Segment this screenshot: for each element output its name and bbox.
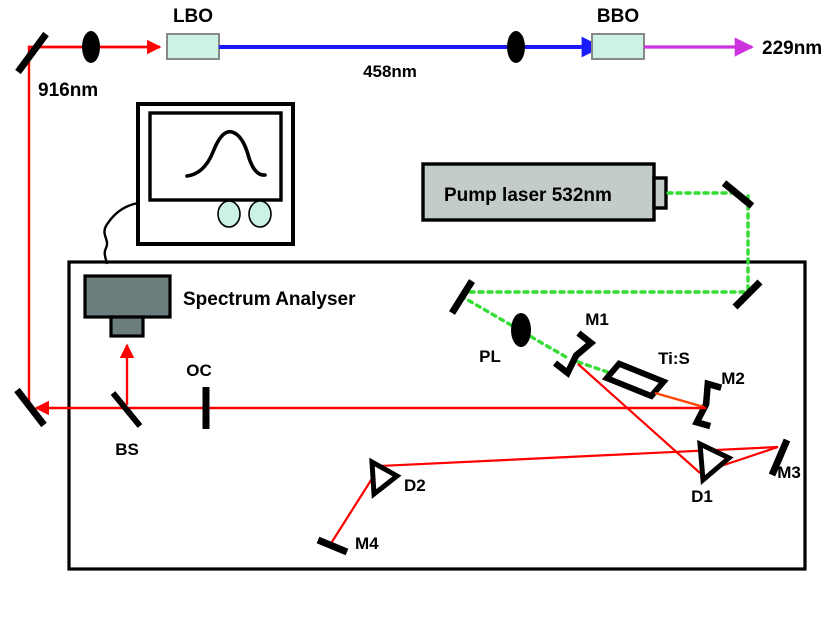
beam-tis-to-m2	[655, 393, 704, 407]
pump-laser-aperture	[654, 178, 666, 208]
monitor-knob-right[interactable]	[249, 201, 271, 227]
spectrum-analyser-body	[85, 276, 170, 317]
label-bbo: BBO	[597, 6, 639, 27]
lens-916nm-focusing	[82, 31, 100, 63]
label-pl: PL	[479, 347, 501, 366]
label-spectrum-analyser: Spectrum Analyser	[183, 289, 356, 310]
label-pump-laser: Pump laser 532nm	[444, 185, 612, 206]
lens-458nm-focusing	[507, 31, 525, 63]
lens-pump-focusing	[511, 313, 531, 347]
label-m2: M2	[721, 369, 745, 388]
monitor-display[interactable]	[138, 104, 293, 244]
label-d1: D1	[691, 487, 713, 506]
prism-d2[interactable]	[372, 462, 397, 494]
monitor-screen	[150, 113, 281, 200]
label-916nm: 916nm	[38, 80, 98, 101]
label-m4: M4	[355, 534, 379, 553]
label-bs: BS	[115, 440, 139, 459]
label-d2: D2	[404, 476, 426, 495]
mirror-pump-steering-3[interactable]	[452, 281, 472, 313]
monitor-knob-left[interactable]	[218, 201, 240, 227]
label-m1: M1	[585, 310, 609, 329]
spectrum-analyser[interactable]	[85, 276, 170, 336]
crystal-bbo[interactable]	[592, 34, 644, 59]
crystal-lbo[interactable]	[167, 34, 219, 59]
mirror-m1[interactable]	[555, 333, 591, 373]
label-lbo: LBO	[173, 6, 213, 27]
label-oc: OC	[186, 361, 212, 380]
optical-layout-diagram: LBO 458nm BBO 229nm 916nm Pump laser 532…	[0, 0, 830, 623]
pump-laser[interactable]: Pump laser 532nm	[423, 164, 666, 220]
figure-canvas: LBO 458nm BBO 229nm 916nm Pump laser 532…	[0, 0, 830, 623]
label-458nm: 458nm	[363, 62, 417, 81]
laser-enclosure-box	[69, 262, 805, 569]
label-229nm: 229nm	[762, 38, 822, 59]
label-m3: M3	[777, 463, 801, 482]
label-tis: Ti:S	[658, 349, 690, 368]
cable-monitor-to-analyser	[104, 203, 138, 264]
mirror-input-steering[interactable]	[18, 34, 46, 72]
spectrum-analyser-input-port	[111, 317, 143, 336]
